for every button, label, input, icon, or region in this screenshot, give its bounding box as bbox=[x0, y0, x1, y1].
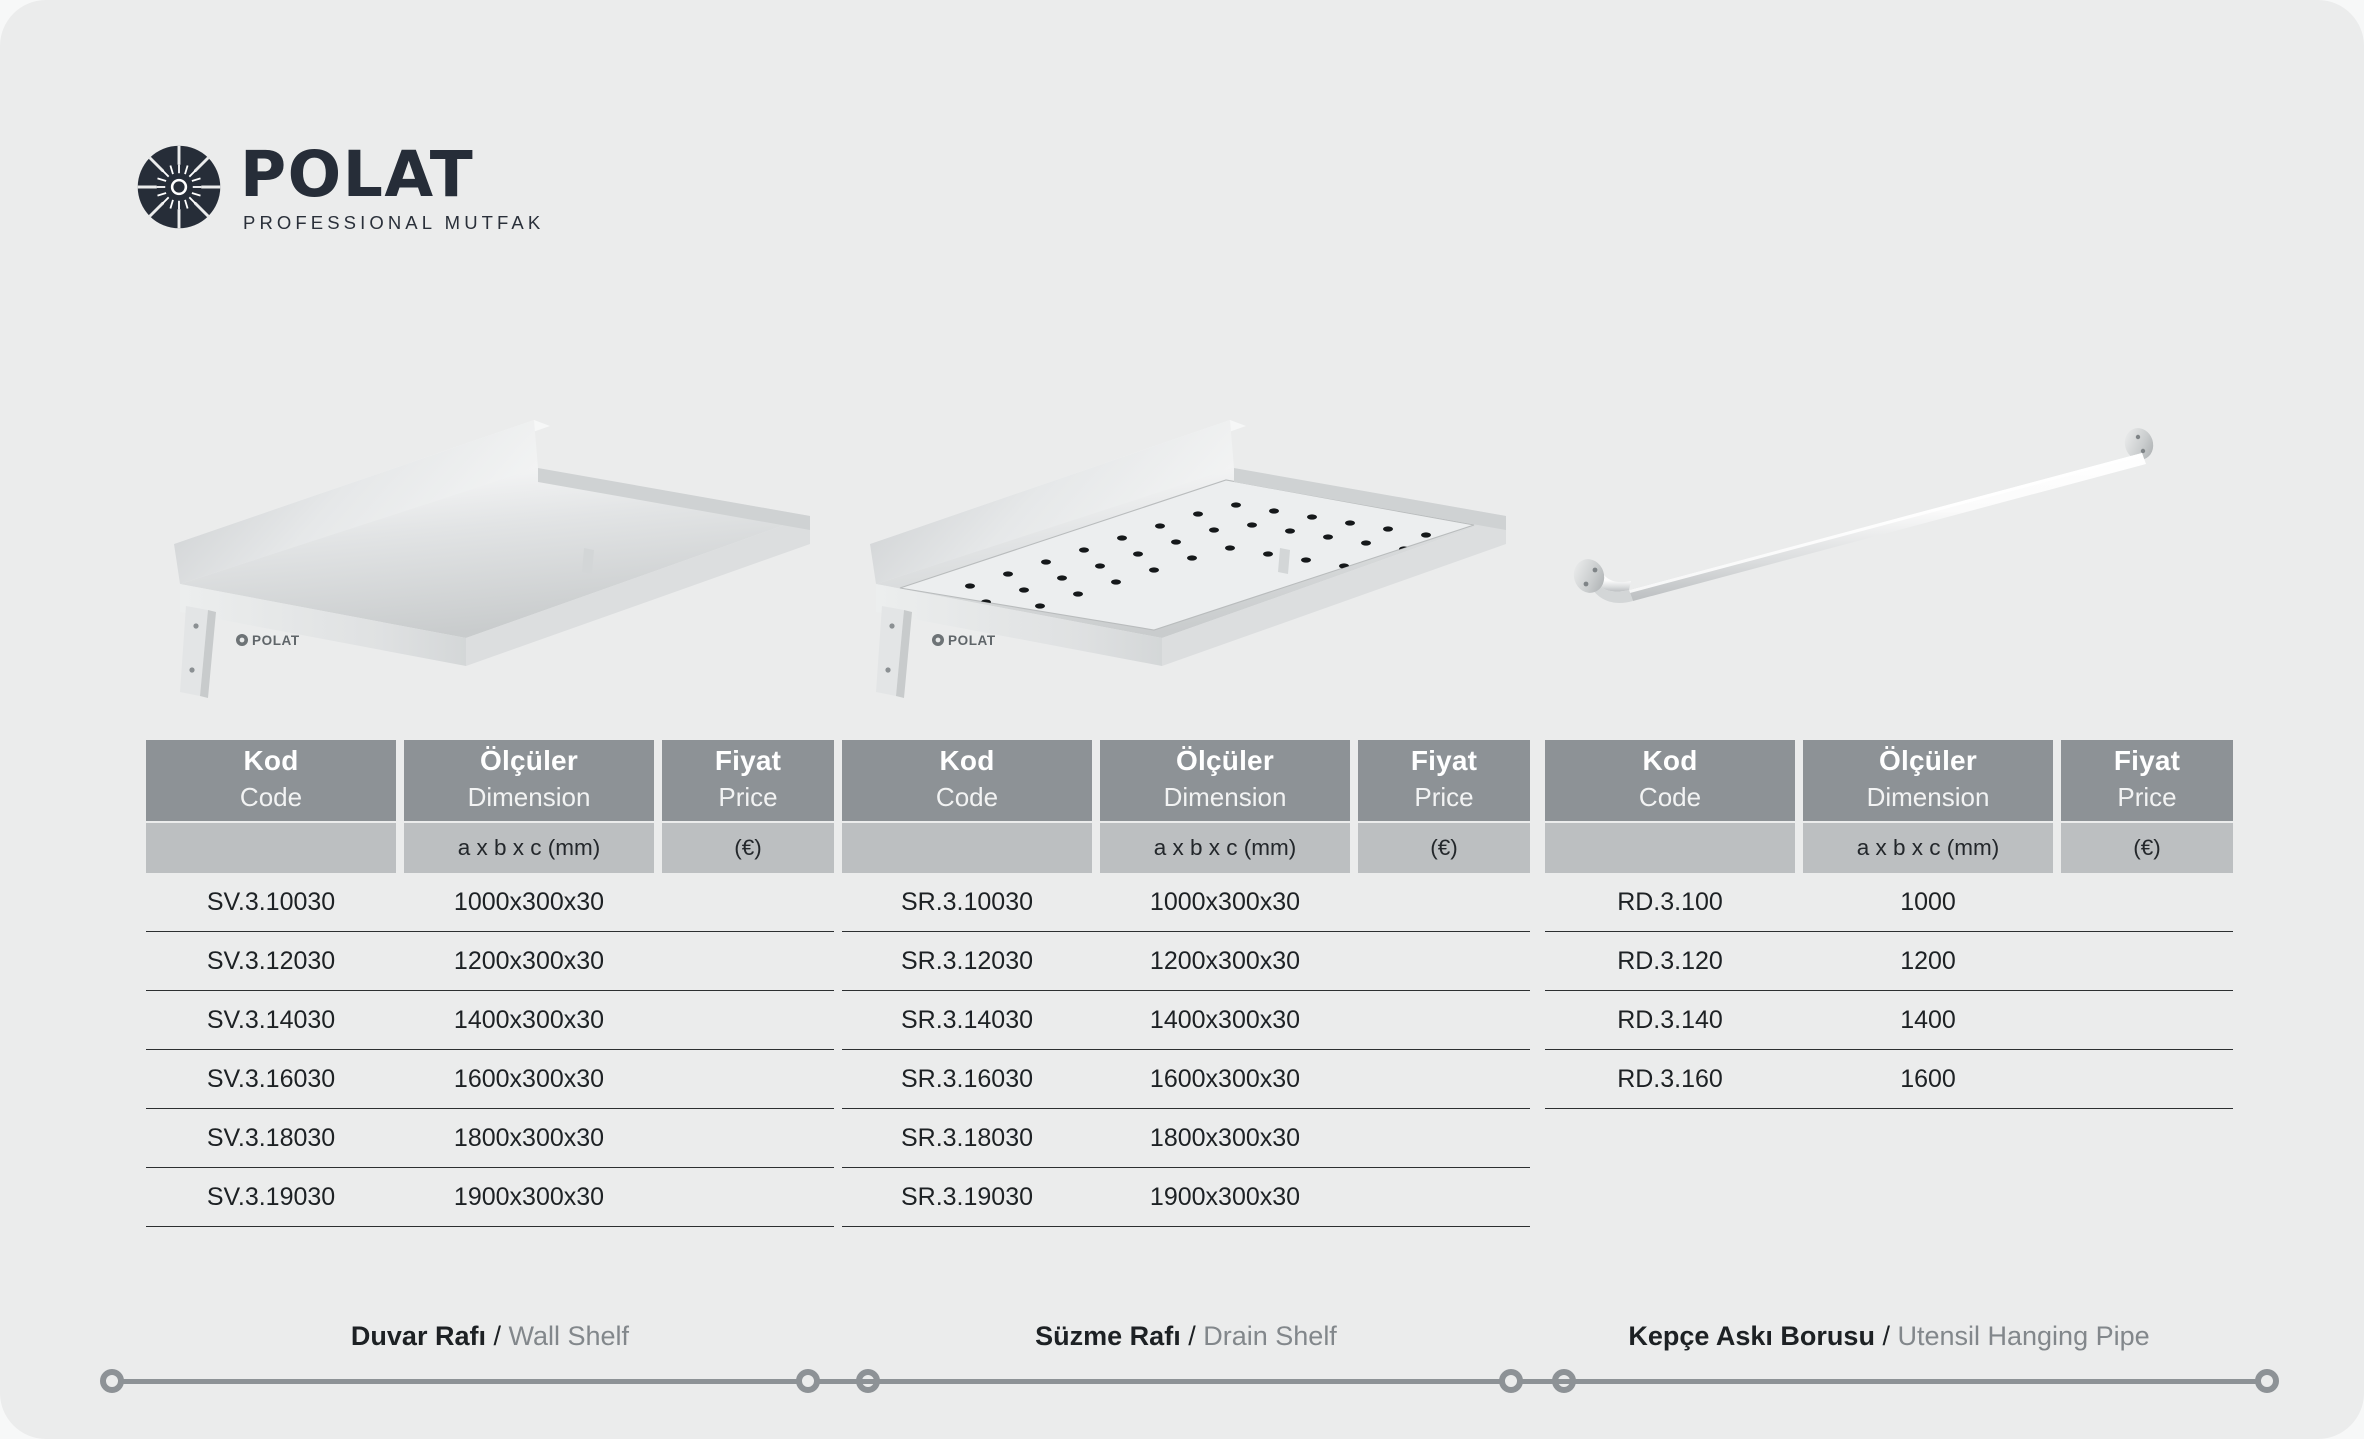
header-dimension-en: Dimension bbox=[1164, 781, 1287, 814]
rule-dot-right-icon bbox=[2255, 1369, 2279, 1393]
subheader-cell-dimension: a x b x c (mm) bbox=[404, 823, 654, 873]
header-price-tr: Fiyat bbox=[2114, 746, 2180, 777]
catalog-page: POLAT PROFESSIONAL MUTFAK bbox=[0, 0, 2364, 1439]
caption-en: Drain Shelf bbox=[1203, 1321, 1337, 1351]
product-caption-drain-shelf: Süzme Rafı / Drain Shelf bbox=[796, 1322, 1576, 1393]
product-column-utensil-hanging-pipe: Kod Code Ölçüler Dimension Fiyat Price a… bbox=[1545, 0, 2233, 1439]
wall-shelf-image: POLAT bbox=[146, 398, 834, 698]
header-dimension-en: Dimension bbox=[1867, 781, 1990, 814]
cell-price bbox=[2061, 991, 2233, 1049]
header-price-en: Price bbox=[2117, 781, 2176, 814]
subheader-cell-price: (€) bbox=[662, 823, 834, 873]
table-body: RD.3.1001000RD.3.1201200RD.3.1401400RD.3… bbox=[1545, 873, 2233, 1109]
spec-table-utensil-hanging-pipe: Kod Code Ölçüler Dimension Fiyat Price a… bbox=[1545, 740, 2233, 1109]
header-cell-code: Kod Code bbox=[1545, 740, 1795, 821]
header-code-tr: Kod bbox=[939, 746, 994, 777]
rule-dot-left-icon bbox=[796, 1369, 820, 1393]
table-row: SV.3.160301600x300x30 bbox=[146, 1050, 834, 1109]
cell-dimension: 1800x300x30 bbox=[1100, 1109, 1350, 1167]
cell-dimension: 1400 bbox=[1803, 991, 2053, 1049]
caption-separator: / bbox=[1882, 1321, 1890, 1351]
svg-text:POLAT: POLAT bbox=[252, 633, 300, 648]
caption-text: Süzme Rafı / Drain Shelf bbox=[796, 1322, 1576, 1352]
table-row: SV.3.120301200x300x30 bbox=[146, 932, 834, 991]
header-price-tr: Fiyat bbox=[715, 746, 781, 777]
spec-table-wall-shelf: Kod Code Ölçüler Dimension Fiyat Price a… bbox=[146, 740, 834, 1227]
caption-separator: / bbox=[1188, 1321, 1196, 1351]
header-cell-dimension: Ölçüler Dimension bbox=[1100, 740, 1350, 821]
product-column-drain-shelf: POLAT Kod Code Ölçüler Dimension Fiyat bbox=[842, 0, 1530, 1439]
cell-dimension: 1600x300x30 bbox=[1100, 1050, 1350, 1108]
cell-dimension: 1000x300x30 bbox=[1100, 873, 1350, 931]
cell-price bbox=[2061, 1050, 2233, 1108]
cell-dimension: 1900x300x30 bbox=[404, 1168, 654, 1226]
cell-dimension: 1600x300x30 bbox=[404, 1050, 654, 1108]
cell-code: SV.3.18030 bbox=[146, 1109, 396, 1167]
product-caption-utensil-hanging-pipe: Kepçe Askı Borusu / Utensil Hanging Pipe bbox=[1499, 1322, 2279, 1393]
caption-tr: Kepçe Askı Borusu bbox=[1628, 1321, 1875, 1351]
table-row: SV.3.180301800x300x30 bbox=[146, 1109, 834, 1168]
cell-price bbox=[1358, 1050, 1530, 1108]
table-row: RD.3.1201200 bbox=[1545, 932, 2233, 991]
cell-dimension: 1400x300x30 bbox=[1100, 991, 1350, 1049]
header-dimension-en: Dimension bbox=[468, 781, 591, 814]
subheader-cell-dimension: a x b x c (mm) bbox=[1100, 823, 1350, 873]
table-row: SR.3.140301400x300x30 bbox=[842, 991, 1530, 1050]
table-header-row: Kod Code Ölçüler Dimension Fiyat Price bbox=[1545, 740, 2233, 821]
header-cell-dimension: Ölçüler Dimension bbox=[404, 740, 654, 821]
table-subheader-row: a x b x c (mm) (€) bbox=[146, 823, 834, 873]
cell-dimension: 1800x300x30 bbox=[404, 1109, 654, 1167]
caption-separator: / bbox=[493, 1321, 501, 1351]
cell-code: SR.3.19030 bbox=[842, 1168, 1092, 1226]
utensil-hanging-pipe-image bbox=[1545, 398, 2233, 698]
cell-code: SV.3.10030 bbox=[146, 873, 396, 931]
caption-rule bbox=[1499, 1369, 2279, 1393]
product-columns: POLAT Kod Code Ölçüler Dimension Fiyat bbox=[0, 0, 2364, 1439]
header-price-tr: Fiyat bbox=[1411, 746, 1477, 777]
product-column-wall-shelf: POLAT Kod Code Ölçüler Dimension Fiyat bbox=[146, 0, 834, 1439]
cell-price bbox=[662, 1050, 834, 1108]
cell-price bbox=[662, 1109, 834, 1167]
header-code-tr: Kod bbox=[243, 746, 298, 777]
header-cell-price: Fiyat Price bbox=[1358, 740, 1530, 821]
subheader-cell-dimension: a x b x c (mm) bbox=[1803, 823, 2053, 873]
rule-line bbox=[808, 1379, 1564, 1384]
cell-dimension: 1600 bbox=[1803, 1050, 2053, 1108]
header-dimension-tr: Ölçüler bbox=[1176, 746, 1274, 777]
table-header-row: Kod Code Ölçüler Dimension Fiyat Price bbox=[146, 740, 834, 821]
table-body: SR.3.100301000x300x30SR.3.120301200x300x… bbox=[842, 873, 1530, 1227]
cell-price bbox=[1358, 1109, 1530, 1167]
cell-dimension: 1200 bbox=[1803, 932, 2053, 990]
cell-dimension: 1200x300x30 bbox=[404, 932, 654, 990]
spec-table-drain-shelf: Kod Code Ölçüler Dimension Fiyat Price a… bbox=[842, 740, 1530, 1227]
cell-code: SV.3.14030 bbox=[146, 991, 396, 1049]
table-row: SR.3.190301900x300x30 bbox=[842, 1168, 1530, 1227]
cell-price bbox=[1358, 873, 1530, 931]
cell-dimension: 1900x300x30 bbox=[1100, 1168, 1350, 1226]
cell-price bbox=[2061, 932, 2233, 990]
header-code-en: Code bbox=[240, 781, 302, 814]
cell-price bbox=[662, 873, 834, 931]
cell-code: RD.3.100 bbox=[1545, 873, 1795, 931]
header-dimension-tr: Ölçüler bbox=[480, 746, 578, 777]
cell-price bbox=[2061, 873, 2233, 931]
cell-code: SR.3.14030 bbox=[842, 991, 1092, 1049]
cell-price bbox=[1358, 991, 1530, 1049]
rule-line bbox=[1511, 1379, 2267, 1384]
cell-price bbox=[662, 991, 834, 1049]
table-subheader-row: a x b x c (mm) (€) bbox=[1545, 823, 2233, 873]
cell-dimension: 1400x300x30 bbox=[404, 991, 654, 1049]
table-row: RD.3.1601600 bbox=[1545, 1050, 2233, 1109]
cell-code: RD.3.160 bbox=[1545, 1050, 1795, 1108]
subheader-cell-code bbox=[146, 823, 396, 873]
cell-code: SR.3.12030 bbox=[842, 932, 1092, 990]
table-row: SR.3.100301000x300x30 bbox=[842, 873, 1530, 932]
cell-code: RD.3.140 bbox=[1545, 991, 1795, 1049]
cell-code: SR.3.10030 bbox=[842, 873, 1092, 931]
subheader-cell-code bbox=[842, 823, 1092, 873]
table-body: SV.3.100301000x300x30SV.3.120301200x300x… bbox=[146, 873, 834, 1227]
caption-rule bbox=[796, 1369, 1576, 1393]
cell-code: SV.3.16030 bbox=[146, 1050, 396, 1108]
rule-line bbox=[112, 1379, 868, 1384]
header-cell-code: Kod Code bbox=[842, 740, 1092, 821]
table-row: SV.3.190301900x300x30 bbox=[146, 1168, 834, 1227]
product-caption-wall-shelf: Duvar Rafı / Wall Shelf bbox=[100, 1322, 880, 1393]
cell-price bbox=[1358, 1168, 1530, 1226]
rule-dot-left-icon bbox=[100, 1369, 124, 1393]
header-code-tr: Kod bbox=[1642, 746, 1697, 777]
subheader-cell-code bbox=[1545, 823, 1795, 873]
cell-code: SV.3.12030 bbox=[146, 932, 396, 990]
cell-price bbox=[662, 1168, 834, 1226]
table-row: SV.3.140301400x300x30 bbox=[146, 991, 834, 1050]
header-code-en: Code bbox=[936, 781, 998, 814]
caption-en: Utensil Hanging Pipe bbox=[1897, 1321, 2149, 1351]
header-price-en: Price bbox=[718, 781, 777, 814]
header-cell-code: Kod Code bbox=[146, 740, 396, 821]
table-row: RD.3.1001000 bbox=[1545, 873, 2233, 932]
table-row: RD.3.1401400 bbox=[1545, 991, 2233, 1050]
table-subheader-row: a x b x c (mm) (€) bbox=[842, 823, 1530, 873]
table-row: SR.3.160301600x300x30 bbox=[842, 1050, 1530, 1109]
header-dimension-tr: Ölçüler bbox=[1879, 746, 1977, 777]
caption-rule bbox=[100, 1369, 880, 1393]
cell-dimension: 1000x300x30 bbox=[404, 873, 654, 931]
caption-tr: Süzme Rafı bbox=[1035, 1321, 1181, 1351]
header-cell-price: Fiyat Price bbox=[2061, 740, 2233, 821]
header-cell-dimension: Ölçüler Dimension bbox=[1803, 740, 2053, 821]
caption-text: Kepçe Askı Borusu / Utensil Hanging Pipe bbox=[1499, 1322, 2279, 1352]
table-header-row: Kod Code Ölçüler Dimension Fiyat Price bbox=[842, 740, 1530, 821]
caption-text: Duvar Rafı / Wall Shelf bbox=[100, 1322, 880, 1352]
caption-en: Wall Shelf bbox=[509, 1321, 630, 1351]
cell-code: SV.3.19030 bbox=[146, 1168, 396, 1226]
cell-dimension: 1200x300x30 bbox=[1100, 932, 1350, 990]
subheader-cell-price: (€) bbox=[1358, 823, 1530, 873]
cell-price bbox=[662, 932, 834, 990]
cell-code: RD.3.120 bbox=[1545, 932, 1795, 990]
cell-code: SR.3.18030 bbox=[842, 1109, 1092, 1167]
subheader-cell-price: (€) bbox=[2061, 823, 2233, 873]
cell-code: SR.3.16030 bbox=[842, 1050, 1092, 1108]
header-price-en: Price bbox=[1414, 781, 1473, 814]
table-row: SR.3.120301200x300x30 bbox=[842, 932, 1530, 991]
drain-shelf-image: POLAT bbox=[842, 398, 1530, 698]
cell-dimension: 1000 bbox=[1803, 873, 2053, 931]
cell-price bbox=[1358, 932, 1530, 990]
rule-dot-left-icon bbox=[1499, 1369, 1523, 1393]
header-code-en: Code bbox=[1639, 781, 1701, 814]
table-row: SR.3.180301800x300x30 bbox=[842, 1109, 1530, 1168]
table-row: SV.3.100301000x300x30 bbox=[146, 873, 834, 932]
header-cell-price: Fiyat Price bbox=[662, 740, 834, 821]
caption-tr: Duvar Rafı bbox=[351, 1321, 486, 1351]
svg-text:POLAT: POLAT bbox=[948, 633, 996, 648]
